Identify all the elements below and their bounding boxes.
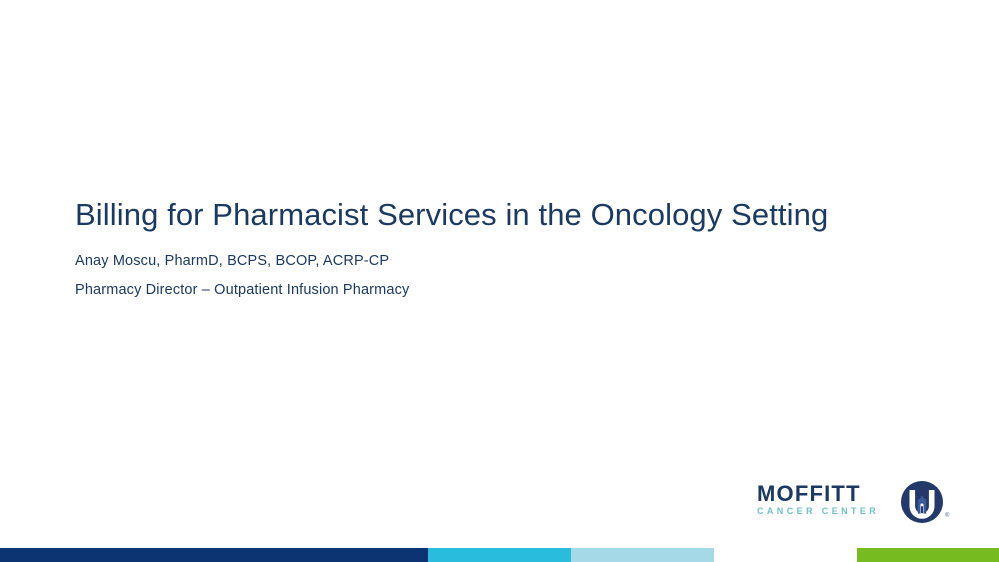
bar-segment-light-blue (571, 548, 714, 562)
moffitt-logo: MOFFITT CANCER CENTER ® (757, 482, 957, 528)
presentation-slide: Billing for Pharmacist Services in the O… (0, 0, 999, 562)
bottom-accent-bar (0, 548, 999, 562)
registered-trademark-icon: ® (945, 512, 949, 520)
moffitt-m-emblem-icon (900, 480, 944, 524)
bar-segment-navy (0, 548, 428, 562)
logo-tagline: CANCER CENTER (757, 505, 897, 518)
title-block: Billing for Pharmacist Services in the O… (75, 196, 865, 305)
presenter-role: Pharmacy Director – Outpatient Infusion … (75, 276, 865, 305)
bar-segment-cyan (428, 548, 571, 562)
logo-wordmark: MOFFITT (757, 482, 897, 505)
logo-text-group: MOFFITT CANCER CENTER (757, 482, 897, 518)
presenter-name: Anay Moscu, PharmD, BCPS, BCOP, ACRP-CP (75, 247, 865, 276)
bar-segment-green (857, 548, 999, 562)
presenter-info: Anay Moscu, PharmD, BCPS, BCOP, ACRP-CP … (75, 247, 865, 305)
page-title: Billing for Pharmacist Services in the O… (75, 196, 865, 233)
